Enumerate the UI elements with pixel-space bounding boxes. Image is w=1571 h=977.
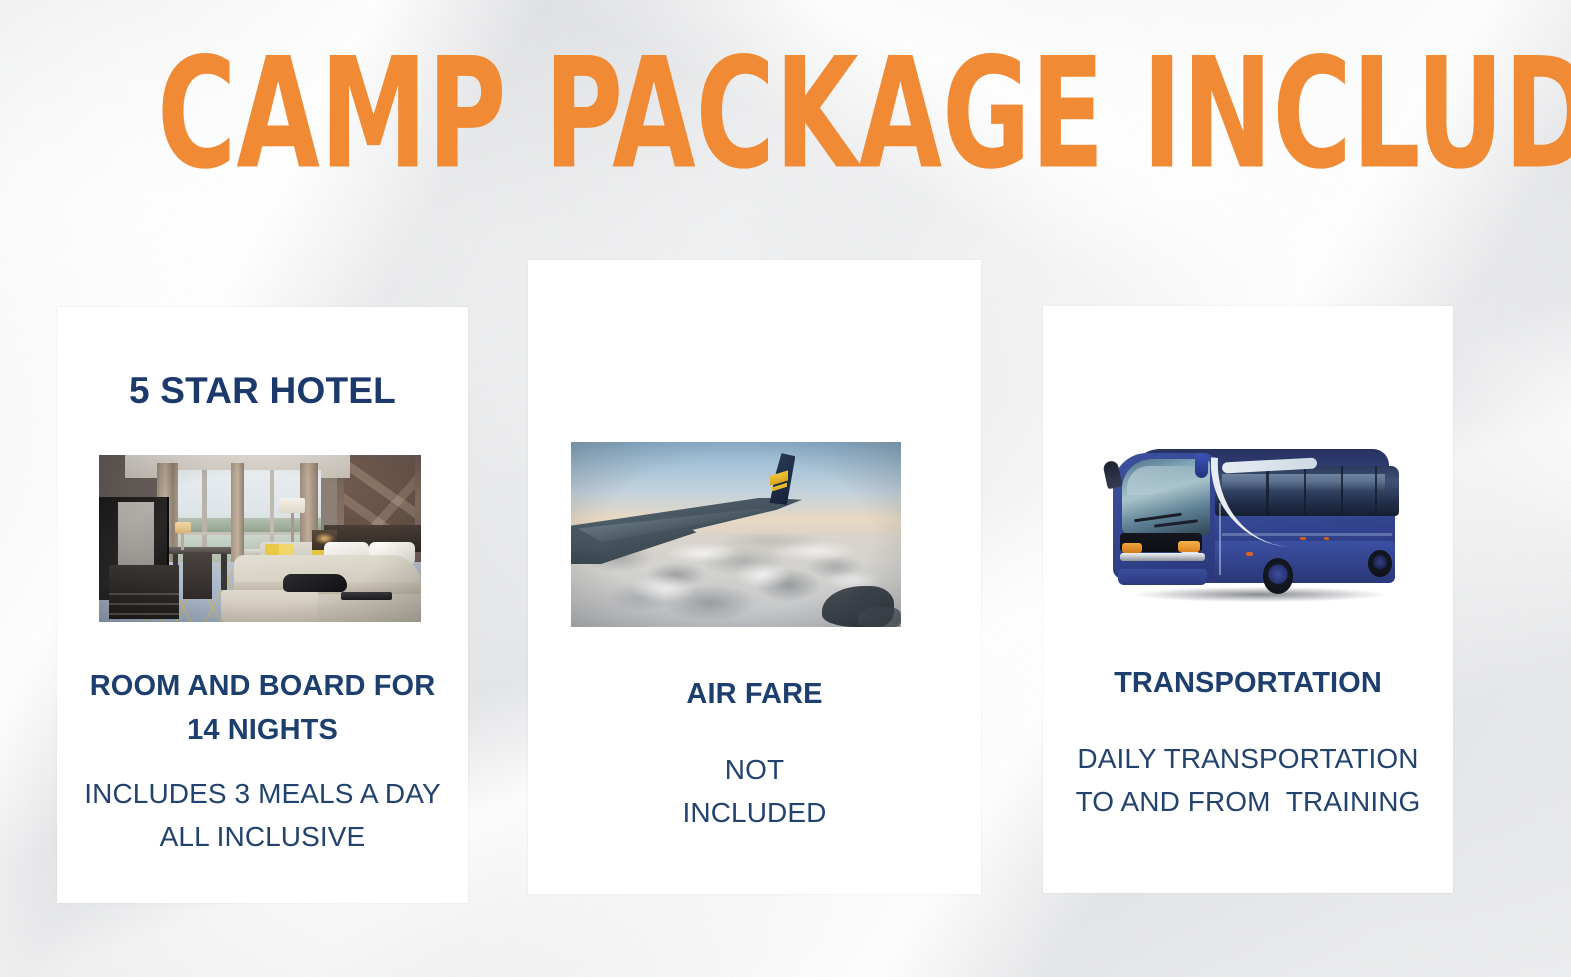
card-air-fare-subheading: AIR FARE (528, 672, 981, 716)
slide-root: CAMP PACKAGE INCLUDES 5 STAR HOTEL (0, 0, 1571, 977)
card-hotel-subheading: ROOM AND BOARD FOR 14 NIGHTS (77, 664, 448, 752)
card-hotel-body: INCLUDES 3 MEALS A DAY ALL INCLUSIVE (67, 772, 458, 858)
card-hotel: 5 STAR HOTEL (57, 307, 468, 903)
hotel-room-photo (99, 455, 421, 622)
card-transportation: TRANSPORTATION DAILY TRANSPORTATION TO A… (1043, 306, 1453, 893)
card-transportation-subheading: TRANSPORTATION (1043, 661, 1453, 705)
coach-bus-photo (1086, 411, 1426, 621)
card-transportation-body: DAILY TRANSPORTATION TO AND FROM TRAININ… (1039, 737, 1457, 823)
card-air-fare-body: NOT INCLUDED (528, 748, 981, 834)
airplane-wing-photo (571, 442, 901, 627)
card-hotel-heading: 5 STAR HOTEL (57, 369, 468, 413)
page-title: CAMP PACKAGE INCLUDES (157, 38, 1414, 191)
card-air-fare: AIR FARE NOT INCLUDED (528, 260, 981, 894)
coach-bus-scene (1086, 411, 1426, 621)
airplane-wing-scene (571, 442, 901, 627)
hotel-room-scene (99, 455, 421, 622)
